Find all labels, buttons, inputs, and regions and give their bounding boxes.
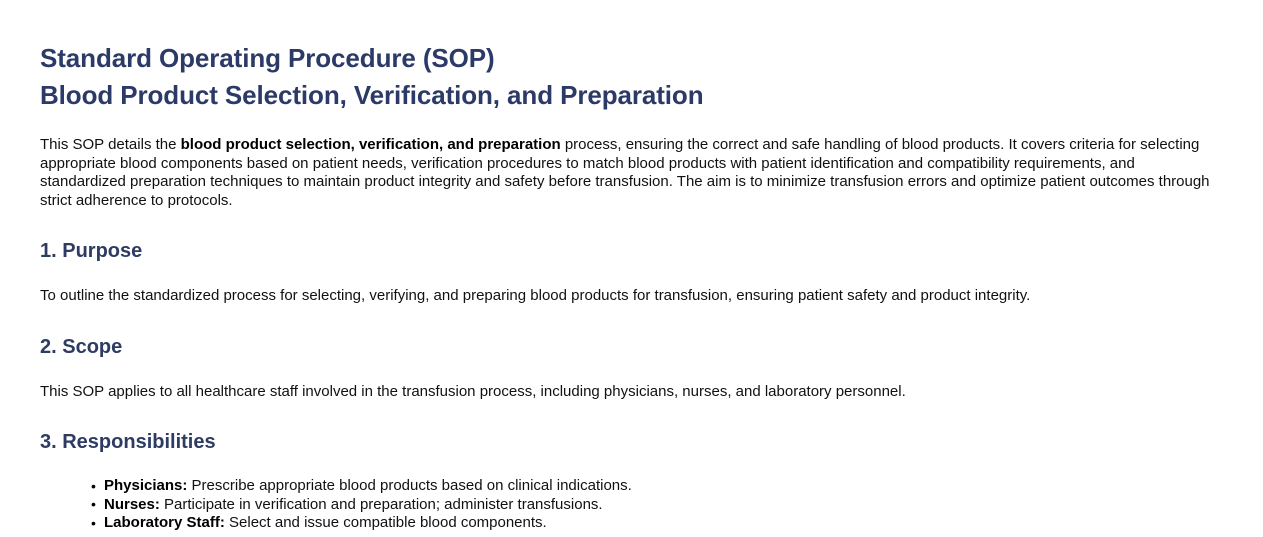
list-item-description: Prescribe appropriate blood products bas… <box>187 477 631 494</box>
list-item-description: Select and issue compatible blood compon… <box>225 514 547 531</box>
list-item-role: Physicians: <box>104 477 187 494</box>
list-item: Physicians: Prescribe appropriate blood … <box>104 477 1215 496</box>
list-item: Nurses: Participate in verification and … <box>104 496 1215 515</box>
responsibilities-list: Physicians: Prescribe appropriate blood … <box>40 477 1215 533</box>
intro-text-before: This SOP details the <box>40 136 181 153</box>
page-title: Standard Operating Procedure (SOP) Blood… <box>40 40 1215 114</box>
intro-emphasis: blood product selection, verification, a… <box>181 136 561 153</box>
list-item-role: Laboratory Staff: <box>104 514 225 531</box>
section-heading-scope: 2. Scope <box>40 335 1215 359</box>
intro-paragraph: This SOP details the blood product selec… <box>40 136 1215 210</box>
list-item-role: Nurses: <box>104 496 160 513</box>
list-item-description: Participate in verification and preparat… <box>160 496 603 513</box>
section-body-scope: This SOP applies to all healthcare staff… <box>40 383 1215 402</box>
page-title-line-2: Blood Product Selection, Verification, a… <box>40 77 1215 114</box>
page-title-line-1: Standard Operating Procedure (SOP) <box>40 40 1215 77</box>
list-item: Laboratory Staff: Select and issue compa… <box>104 514 1215 533</box>
section-body-purpose: To outline the standardized process for … <box>40 287 1215 306</box>
section-heading-responsibilities: 3. Responsibilities <box>40 430 1215 454</box>
section-heading-purpose: 1. Purpose <box>40 239 1215 263</box>
document-page: Standard Operating Procedure (SOP) Blood… <box>0 0 1263 533</box>
